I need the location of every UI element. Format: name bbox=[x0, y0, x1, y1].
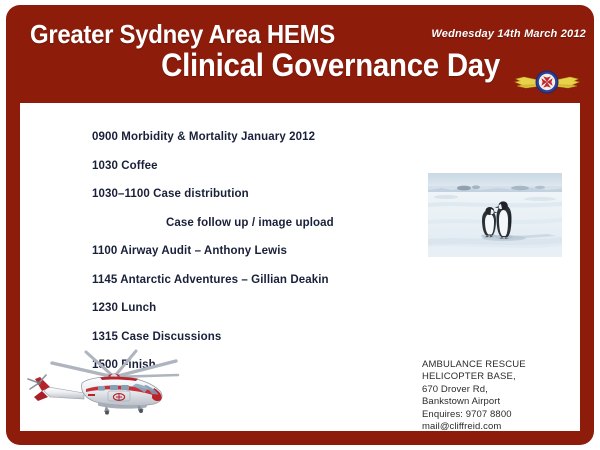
agenda-item: 1145 Antarctic Adventures – Gillian Deak… bbox=[92, 274, 422, 286]
address-line: 670 Drover Rd, bbox=[422, 384, 572, 396]
header-band: Greater Sydney Area HEMS Clinical Govern… bbox=[6, 19, 594, 103]
address-line: AMBULANCE RESCUE bbox=[422, 359, 572, 371]
agenda-item: 1315 Case Discussions bbox=[92, 331, 422, 343]
agenda-item: 1230 Lunch bbox=[92, 302, 422, 314]
poster-frame: Greater Sydney Area HEMS Clinical Govern… bbox=[6, 5, 594, 445]
title-block: Greater Sydney Area HEMS Clinical Govern… bbox=[30, 21, 500, 81]
rescue-helicopter-graphic bbox=[26, 347, 196, 431]
content-panel: 0900 Morbidity & Mortality January 2012 … bbox=[20, 103, 580, 431]
agenda-item: 0900 Morbidity & Mortality January 2012 bbox=[92, 131, 422, 143]
agenda-item: 1030 Coffee bbox=[92, 160, 422, 172]
poster-title-line-2: Clinical Governance Day bbox=[68, 49, 500, 82]
base-address-block: AMBULANCE RESCUE HELICOPTER BASE, 670 Dr… bbox=[422, 359, 572, 431]
hems-winged-badge-logo bbox=[514, 67, 580, 97]
agenda-item: 1100 Airway Audit – Anthony Lewis bbox=[92, 245, 422, 257]
address-line-email: mail@cliffreid.com bbox=[422, 421, 572, 431]
event-date-label: Wednesday 14th March 2012 bbox=[431, 28, 586, 40]
penguins-on-ice-photo bbox=[428, 173, 562, 257]
agenda-item: Case follow up / image upload bbox=[92, 217, 422, 229]
address-line: Bankstown Airport bbox=[422, 396, 572, 408]
agenda-item: 1030–1100 Case distribution bbox=[92, 188, 422, 200]
address-line-phone: Enquires: 9707 8800 bbox=[422, 409, 572, 421]
poster-title-line-1: Greater Sydney Area HEMS bbox=[30, 21, 462, 48]
address-line: HELICOPTER BASE, bbox=[422, 371, 572, 383]
